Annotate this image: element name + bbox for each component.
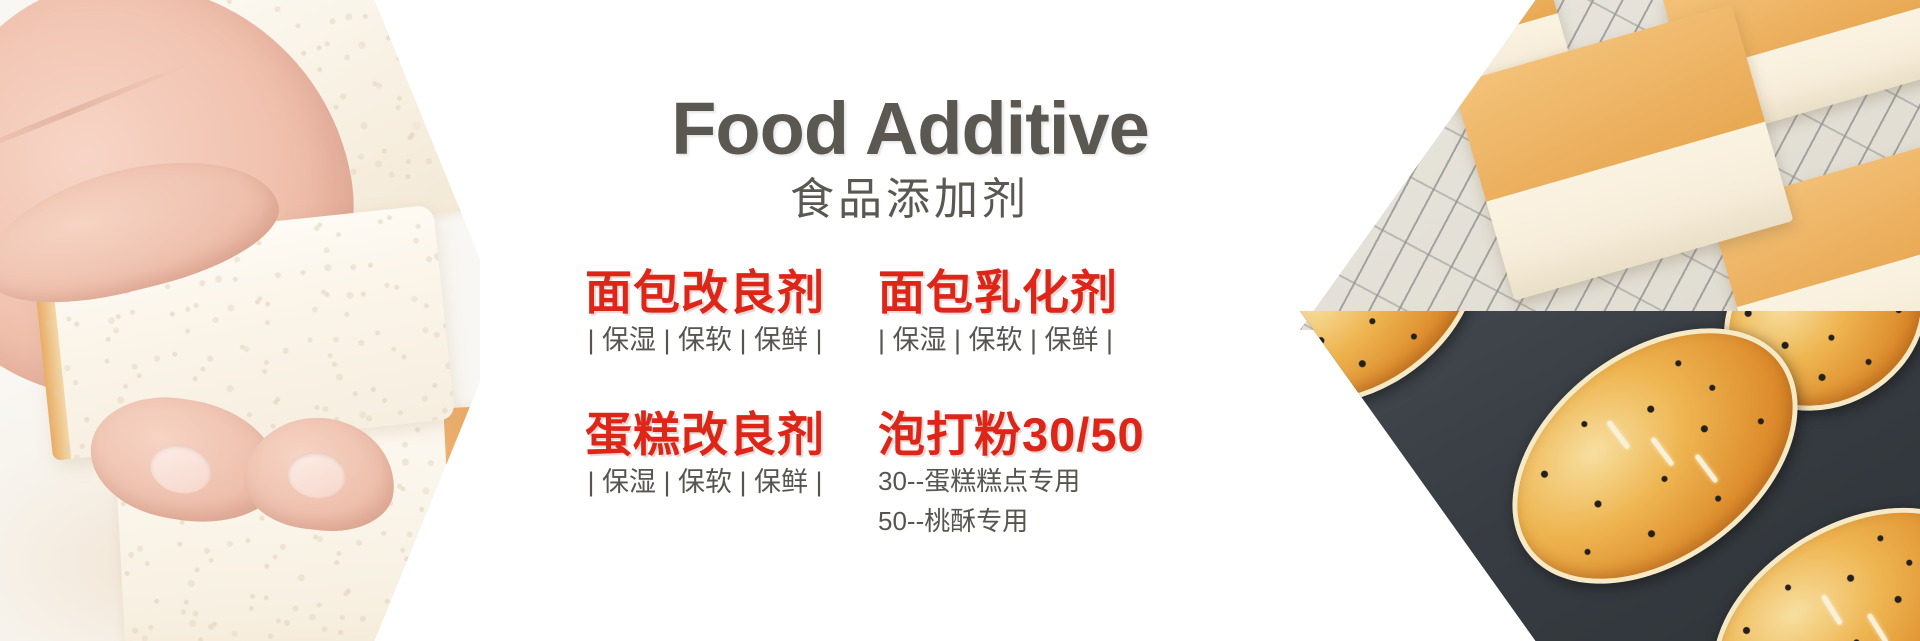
product-note-30: 30--蛋糕糕点专用: [878, 465, 1170, 498]
thumb-crease: [0, 62, 187, 165]
food-additive-banner: Food Additive 食品添加剂 面包改良剂 | 保湿 | 保软 | 保鲜…: [0, 0, 1920, 641]
product-features: | 保湿 | 保软 | 保鲜 |: [550, 466, 860, 500]
product-card-bread-improver: 面包改良剂 | 保湿 | 保软 | 保鲜 |: [550, 268, 860, 358]
product-row-1: 面包改良剂 | 保湿 | 保软 | 保鲜 | 面包乳化剂 | 保湿 | 保软 |…: [550, 268, 1170, 358]
product-name: 面包乳化剂: [878, 268, 1170, 317]
product-row-2: 蛋糕改良剂 | 保湿 | 保软 | 保鲜 | 泡打粉30/50 30--蛋糕糕点…: [550, 410, 1170, 538]
product-card-cake-improver: 蛋糕改良剂 | 保湿 | 保软 | 保鲜 |: [550, 410, 860, 538]
banner-title-english: Food Additive: [470, 92, 1350, 166]
product-card-baking-powder: 泡打粉30/50 30--蛋糕糕点专用 50--桃酥专用: [860, 410, 1170, 538]
banner-title-chinese: 食品添加剂: [470, 178, 1350, 222]
product-grid: 面包改良剂 | 保湿 | 保软 | 保鲜 | 面包乳化剂 | 保湿 | 保软 |…: [550, 268, 1170, 538]
product-name: 蛋糕改良剂: [550, 410, 860, 459]
product-features: | 保湿 | 保软 | 保鲜 |: [878, 324, 1170, 358]
center-text-panel: Food Additive 食品添加剂 面包改良剂 | 保湿 | 保软 | 保鲜…: [470, 0, 1540, 641]
product-name: 泡打粉30/50: [878, 410, 1170, 459]
product-name: 面包改良剂: [550, 268, 860, 317]
product-features: | 保湿 | 保软 | 保鲜 |: [550, 324, 860, 358]
product-card-bread-emulsifier: 面包乳化剂 | 保湿 | 保软 | 保鲜 |: [860, 268, 1170, 358]
product-note-50: 50--桃酥专用: [878, 505, 1170, 538]
